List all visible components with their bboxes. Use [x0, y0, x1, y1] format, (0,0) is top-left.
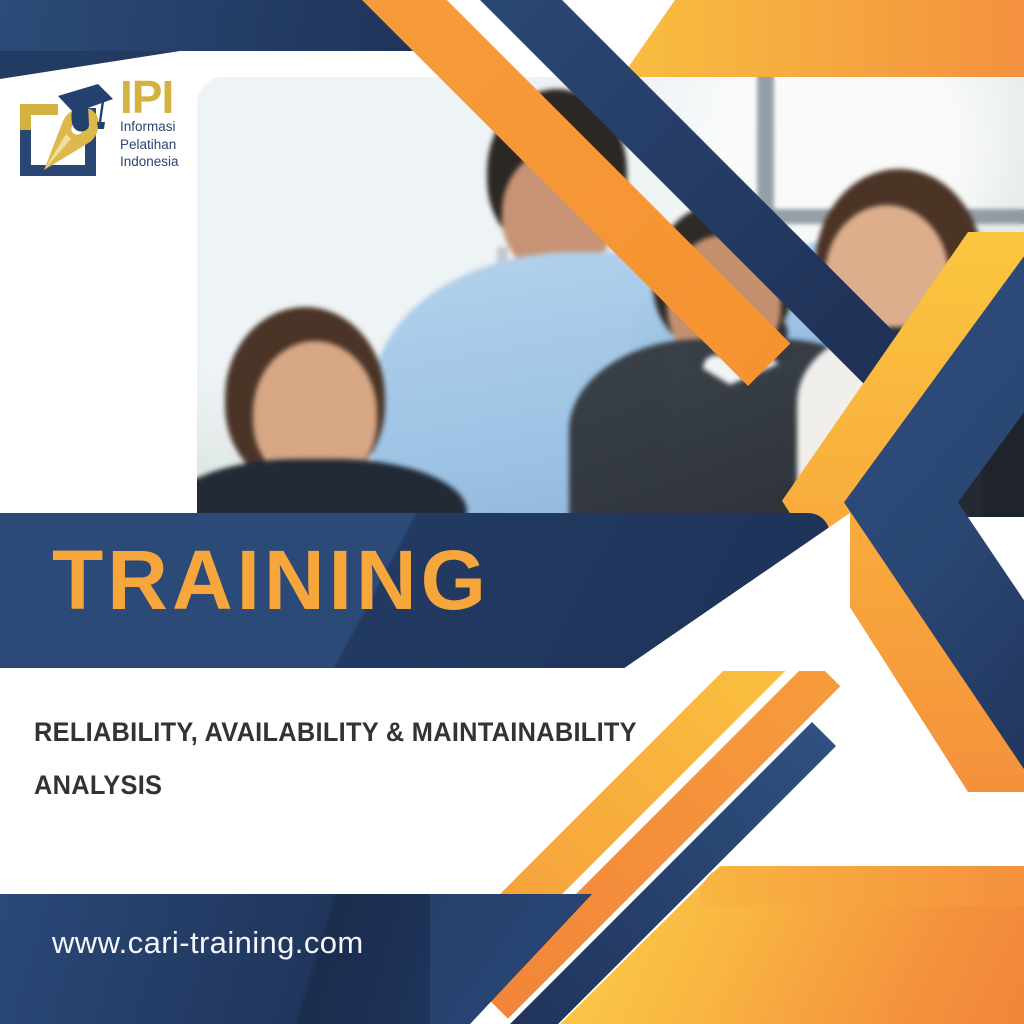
- course-subtitle-line-2: ANALYSIS: [34, 759, 748, 812]
- brand-tagline-line-2: Pelatihan: [120, 136, 210, 153]
- course-subtitle: RELIABILITY, AVAILABILITY & MAINTAINABIL…: [34, 706, 748, 811]
- course-subtitle-line-1: RELIABILITY, AVAILABILITY & MAINTAINABIL…: [34, 706, 748, 759]
- ipi-logo-mark-icon: [14, 82, 114, 182]
- brand-tagline-line-1: Informasi: [120, 118, 210, 135]
- brand-logo[interactable]: IPI Informasi Pelatihan Indonesia: [14, 76, 204, 190]
- brand-logo-text: IPI Informasi Pelatihan Indonesia: [120, 76, 210, 170]
- brand-acronym: IPI: [120, 76, 210, 118]
- brand-tagline-line-3: Indonesia: [120, 153, 210, 170]
- page-title: TRAINING: [52, 538, 490, 622]
- top-navy-band-decor: [0, 0, 420, 51]
- poster-canvas: TRAINING RELIABILITY, AVAILABILITY & MAI…: [0, 0, 1024, 1024]
- footer-orange-round-decor: [700, 866, 1024, 906]
- website-url[interactable]: www.cari-training.com: [52, 925, 364, 961]
